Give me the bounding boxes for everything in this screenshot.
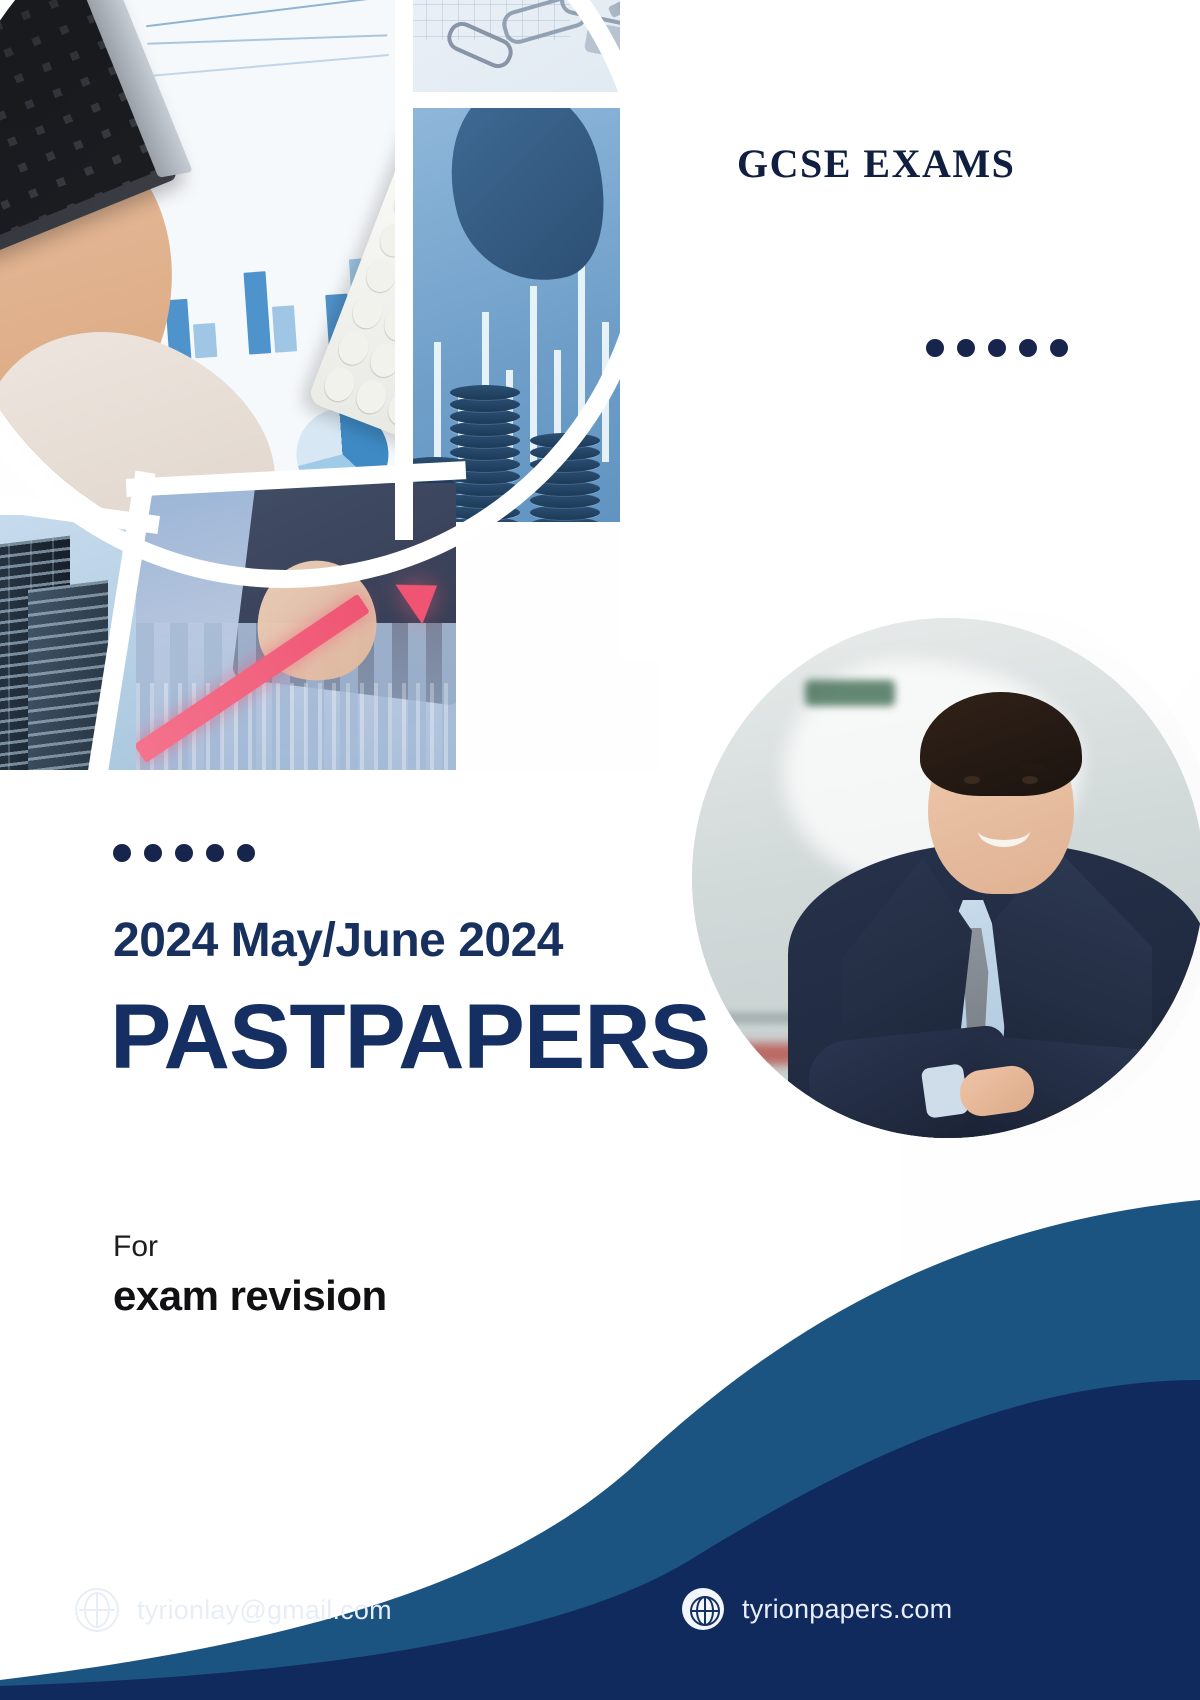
top-right-white-field <box>620 0 1200 660</box>
dot <box>237 844 255 862</box>
dot <box>926 339 944 357</box>
footer-email[interactable]: tyrionlay@gmail.com <box>75 1588 392 1632</box>
coin-stack <box>450 352 520 522</box>
footer-website[interactable]: tyrionpapers.com <box>682 1588 952 1630</box>
footer-email-text: tyrionlay@gmail.com <box>137 1595 392 1626</box>
arrow-head <box>395 566 450 625</box>
dot <box>175 844 193 862</box>
cover-page: FINANCE <box>0 0 1200 1700</box>
portrait-eye-left <box>964 776 980 784</box>
growth-arrow-graphic <box>146 563 446 763</box>
page-eyebrow-title: GCSE EXAMS <box>737 140 1015 187</box>
dot <box>144 844 162 862</box>
dot <box>988 339 1006 357</box>
arrow-shaft <box>136 594 370 763</box>
hero-subtitle: 2024 May/June 2024 <box>113 913 563 968</box>
globe-solid-icon <box>682 1588 724 1630</box>
dot <box>206 844 224 862</box>
dot <box>1050 339 1068 357</box>
dot <box>1019 339 1037 357</box>
dot <box>957 339 975 357</box>
line-chart-block <box>144 0 411 111</box>
page-title: PASTPAPERS <box>110 985 710 1090</box>
footer: tyrionlay@gmail.com tyrionpapers.com <box>0 1510 1200 1700</box>
background-green-accent <box>805 680 895 706</box>
portrait-smile <box>978 814 1030 847</box>
decorative-dots-middle <box>113 844 255 862</box>
coin-stack <box>530 412 600 522</box>
decorative-dots-top <box>926 339 1068 357</box>
portrait-eye-right <box>1022 776 1038 784</box>
footer-website-text: tyrionpapers.com <box>742 1594 952 1625</box>
dot <box>113 844 131 862</box>
panel-divider <box>395 0 413 540</box>
globe-outline-icon <box>75 1588 119 1632</box>
businessman-portrait-photo <box>692 618 1200 1138</box>
